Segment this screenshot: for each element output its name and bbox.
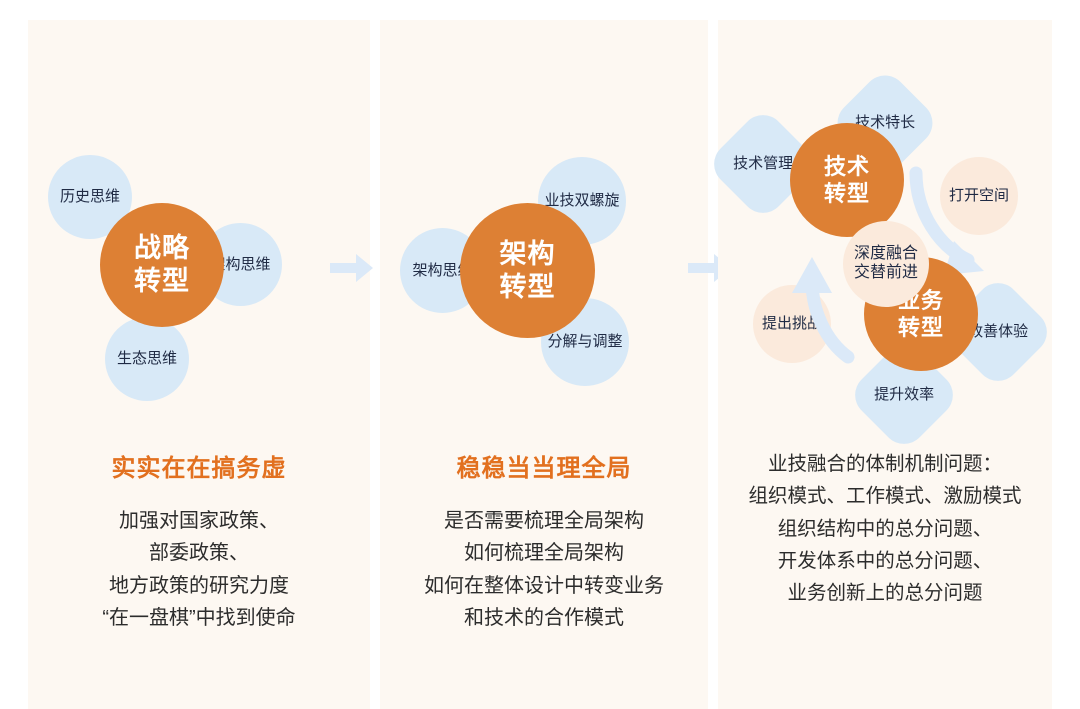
caption-line: “在一盘棋”中找到使命 bbox=[28, 602, 370, 634]
diagram-board: 历史思维 生态思维 架构思维 战略 转型 业技双螺旋 分解与调整 架构思维 架构… bbox=[0, 0, 1080, 709]
caption-line: 组织结构中的总分问题、 bbox=[712, 513, 1058, 545]
node-hub-line2: 转型 bbox=[824, 180, 870, 208]
caption-line: 组织模式、工作模式、激励模式 bbox=[712, 480, 1058, 512]
node-label: 技术管理 bbox=[733, 155, 793, 173]
node-center-line1: 深度融合 bbox=[854, 245, 918, 264]
node-fusion-hub-tech[interactable]: 技术 转型 bbox=[790, 123, 904, 237]
node-hub-line2: 转型 bbox=[500, 271, 556, 304]
node-label: 改善体验 bbox=[968, 323, 1028, 341]
node-hub-line1: 技术 bbox=[824, 153, 870, 181]
caption-line: 加强对国家政策、 bbox=[28, 505, 370, 537]
caption-line: 如何梳理全局架构 bbox=[380, 537, 708, 569]
node-label: 提升效率 bbox=[874, 386, 934, 404]
caption-heading: 稳稳当当理全局 bbox=[380, 448, 708, 483]
node-label: 历史思维 bbox=[60, 188, 120, 206]
node-hub-line1: 战略 bbox=[134, 232, 190, 265]
caption-heading: 实实在在搞务虚 bbox=[28, 448, 370, 483]
node-center-line2: 交替前进 bbox=[854, 264, 918, 283]
caption-strategy: 实实在在搞务虚 加强对国家政策、 部委政策、 地方政策的研究力度 “在一盘棋”中… bbox=[28, 448, 370, 635]
caption-line: 部委政策、 bbox=[28, 537, 370, 569]
node-strategy-satellite-3[interactable]: 生态思维 bbox=[105, 317, 189, 401]
arrow-panel1-to-panel2 bbox=[330, 251, 374, 285]
node-label: 业技双螺旋 bbox=[544, 192, 619, 210]
caption-line: 开发体系中的总分问题、 bbox=[712, 545, 1058, 577]
caption-fusion: 业技融合的体制机制问题： 组织模式、工作模式、激励模式 组织结构中的总分问题、 … bbox=[712, 448, 1058, 610]
node-hub-line2: 转型 bbox=[898, 314, 944, 342]
node-label: 生态思维 bbox=[117, 350, 177, 368]
node-label: 分解与调整 bbox=[547, 333, 622, 351]
caption-line: 地方政策的研究力度 bbox=[28, 570, 370, 602]
caption-line: 如何在整体设计中转变业务 bbox=[380, 570, 708, 602]
caption-line: 业务创新上的总分问题 bbox=[712, 577, 1058, 609]
node-hub-line1: 架构 bbox=[500, 238, 556, 271]
caption-architecture: 稳稳当当理全局 是否需要梳理全局架构 如何梳理全局架构 如何在整体设计中转变业务… bbox=[380, 448, 708, 635]
node-fusion-center[interactable]: 深度融合 交替前进 bbox=[843, 221, 929, 307]
caption-line: 是否需要梳理全局架构 bbox=[380, 505, 708, 537]
node-architecture-hub[interactable]: 架构 转型 bbox=[460, 203, 595, 338]
node-hub-line2: 转型 bbox=[134, 265, 190, 298]
caption-line: 业技融合的体制机制问题： bbox=[712, 448, 1058, 480]
node-strategy-hub[interactable]: 战略 转型 bbox=[100, 203, 224, 327]
caption-line: 和技术的合作模式 bbox=[380, 602, 708, 634]
